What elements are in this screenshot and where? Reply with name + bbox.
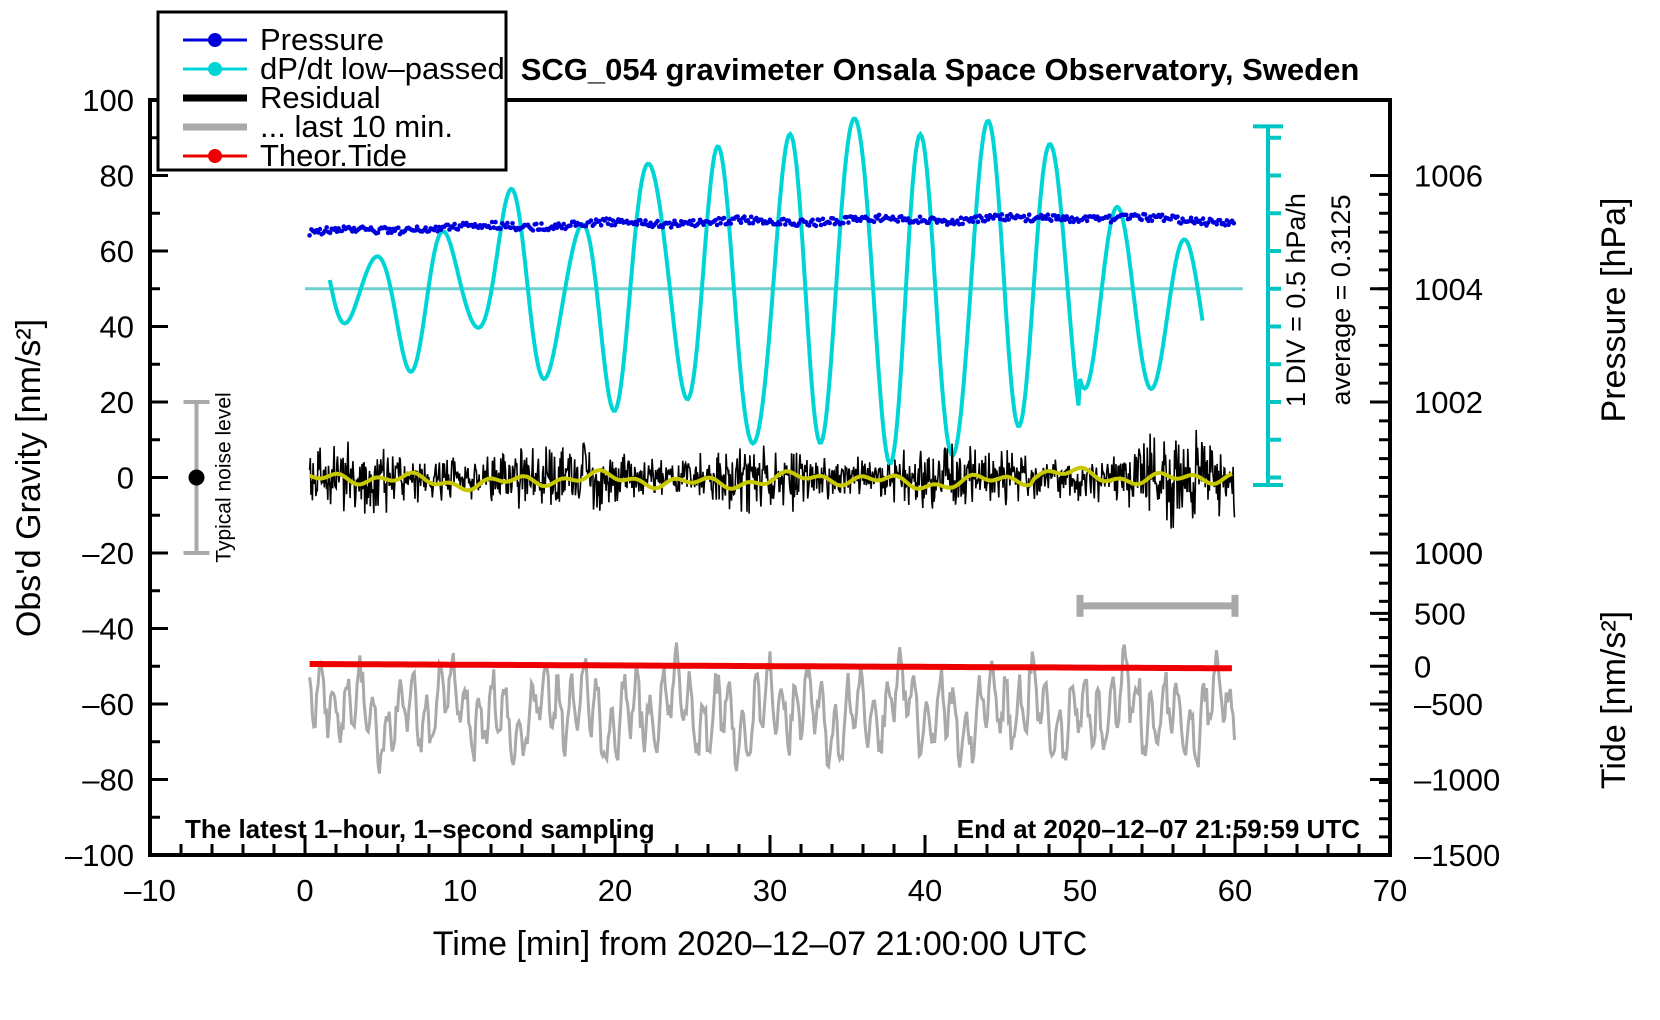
pressure-tick-label: 1006 — [1414, 159, 1483, 194]
y-tick-label: –40 — [82, 612, 134, 647]
y-tick-label: 0 — [117, 461, 134, 496]
tide-tick-label: –1000 — [1414, 763, 1500, 798]
pressure-tick-label: 1002 — [1414, 385, 1483, 420]
y-tick-label: –60 — [82, 687, 134, 722]
pressure-scale-div-label: 1 DIV = 0.5 hPa/h — [1281, 193, 1311, 407]
x-tick-label: 60 — [1218, 873, 1252, 908]
tide-tick-label: 0 — [1414, 649, 1431, 684]
x-tick-label: 20 — [598, 873, 632, 908]
chart-root: –100–80–60–40–20020406080100 –1001020304… — [0, 0, 1660, 1020]
legend-label-4[interactable]: Theor.Tide — [260, 138, 407, 173]
sampling-note: The latest 1–hour, 1–second sampling — [185, 814, 655, 844]
tide-tick-label: 500 — [1414, 596, 1466, 631]
x-axis-tick-labels: –10010203040506070 — [124, 873, 1407, 908]
y-tick-label: –20 — [82, 536, 134, 571]
pressure-scale-average-label: average = 0.3125 — [1326, 195, 1356, 406]
legend[interactable]: PressuredP/dt low–passedResidual... last… — [158, 12, 506, 173]
y-tick-label: 40 — [100, 310, 134, 345]
legend-marker-4 — [208, 149, 222, 163]
gravimeter-chart: –100–80–60–40–20020406080100 –1001020304… — [0, 0, 1660, 1020]
y-axis-right-pressure-label: Pressure [hPa] — [1595, 198, 1633, 423]
y-tick-label: 100 — [82, 83, 134, 118]
y-axis-left-label: Obs'd Gravity [nm/s²] — [10, 319, 48, 637]
x-tick-label: –10 — [124, 873, 176, 908]
legend-marker-0 — [208, 33, 222, 47]
y-axis-left-tick-labels: –100–80–60–40–20020406080100 — [65, 83, 134, 873]
typical-noise-level-label: Typical noise level — [213, 392, 236, 562]
y-tick-label: 20 — [100, 385, 134, 420]
x-tick-label: 40 — [908, 873, 942, 908]
x-tick-label: 30 — [753, 873, 787, 908]
legend-marker-1 — [208, 62, 222, 76]
pressure-tick-label: 1004 — [1414, 272, 1483, 307]
tide-tick-label: –500 — [1414, 687, 1483, 722]
y-axis-right-tide-label: Tide [nm/s²] — [1595, 611, 1633, 789]
x-tick-label: 0 — [296, 873, 313, 908]
y-tick-label: –80 — [82, 763, 134, 798]
theoretical-tide-trace — [310, 664, 1232, 668]
y-axis-right-tick-labels: 1000100210041006–1500–1000–50005001000 — [1414, 159, 1500, 874]
x-tick-label: 70 — [1373, 873, 1407, 908]
tide-tick-label: –1500 — [1414, 838, 1500, 873]
x-tick-label: 10 — [443, 873, 477, 908]
x-tick-label: 50 — [1063, 873, 1097, 908]
x-axis-label: Time [min] from 2020–12–07 21:00:00 UTC — [433, 925, 1088, 963]
tide-tick-label: 1000 — [1414, 536, 1483, 571]
y-tick-label: –100 — [65, 838, 134, 873]
y-tick-label: 80 — [100, 159, 134, 194]
end-time-note: End at 2020–12–07 21:59:59 UTC — [957, 814, 1360, 844]
y-tick-label: 60 — [100, 234, 134, 269]
chart-title: SCG_054 gravimeter Onsala Space Observat… — [521, 52, 1360, 87]
